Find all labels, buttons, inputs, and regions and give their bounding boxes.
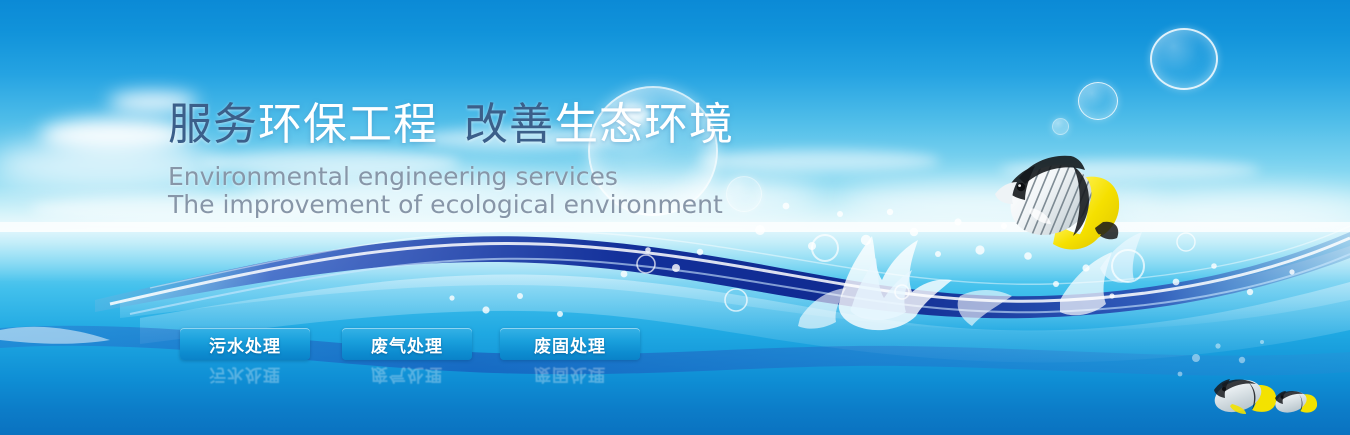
hero-banner: 服务环保工程改善生态环境 Environmental engineering s… [0,0,1350,435]
cta-button-bar: 污水处理 污水处理 废气处理 废气处理 废固处理 废固处理 [0,328,1350,398]
button-reflection-solid-waste: 废固处理 [500,364,640,388]
button-waste-gas-treatment[interactable]: 废气处理 [342,328,472,360]
button-wastewater-treatment[interactable]: 污水处理 [180,328,310,360]
button-label: 废气处理 [371,332,443,357]
button-solid-waste-treatment[interactable]: 废固处理 [500,328,640,360]
button-reflection-waste-gas: 废气处理 [342,364,472,388]
button-reflection-wastewater: 污水处理 [180,364,310,388]
button-label: 污水处理 [209,332,281,357]
button-reflection-label: 污水处理 [209,364,281,388]
button-label: 废固处理 [534,332,606,357]
button-reflection-label: 废气处理 [371,364,443,388]
button-reflection-label: 废固处理 [534,364,606,388]
fish-main [985,138,1125,268]
